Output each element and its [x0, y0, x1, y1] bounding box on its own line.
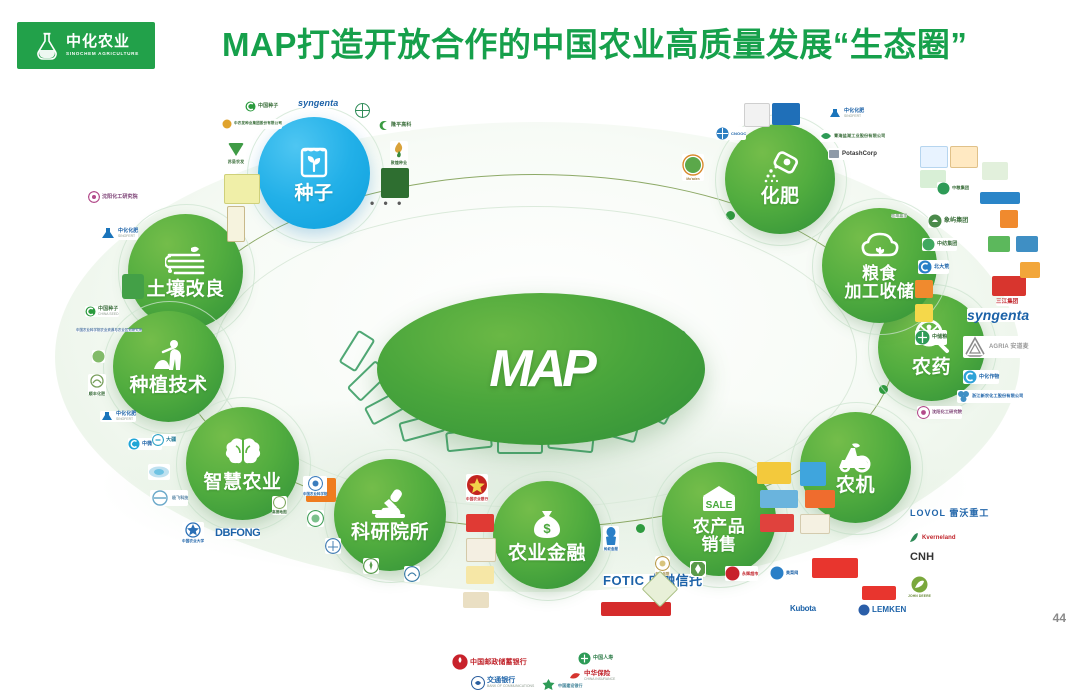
node-machinery-label: 农机	[836, 476, 875, 496]
partner-logo: 中国农业科学院	[303, 476, 327, 496]
partner-logo-text: 交通银行	[487, 677, 534, 684]
partner-logo-text: PotashCorp	[842, 151, 877, 157]
partner-logo: 北大荒	[918, 260, 949, 274]
partner-logo-subtext: SINOFERT	[116, 418, 136, 421]
brain-icon	[222, 435, 264, 471]
partner-logo-text: 中国种子	[258, 104, 278, 109]
partner-logo-text: LEMKEN	[872, 606, 906, 614]
partner-logo: 益海嘉里	[891, 214, 907, 218]
partner-logo-text: 中国农业银行	[466, 498, 488, 502]
partner-logo: 敦煌种业	[390, 141, 408, 165]
partner-logo	[122, 274, 144, 299]
page-title: MAP打造开放合作的中国农业高质量发展“生态圈”	[222, 19, 1012, 71]
partner-logo-subtext: SINOFERT	[844, 115, 864, 118]
partner-logo-text: syngenta	[967, 308, 1029, 322]
partner-logo	[466, 538, 496, 562]
partner-logo: syngenta	[967, 308, 1029, 322]
partner-logo-text: 敦煌种业	[391, 161, 407, 165]
partner-logo	[92, 350, 105, 363]
map-logo-text: MAP	[377, 293, 705, 445]
partner-logo-text: 中纺集团	[937, 242, 957, 247]
partner-logo	[805, 490, 835, 508]
partner-logo-text: 沈阳化工研究院	[932, 410, 962, 414]
partner-logo	[760, 514, 794, 532]
partner-logo: 三江集团	[996, 300, 1018, 306]
partner-logo: 中化化肥 SINOFERT	[100, 411, 136, 422]
slide-root: 中化农业 SINOCHEM AGRICULTURE MAP打造开放合作的中国农业…	[0, 0, 1080, 651]
svg-text:$: $	[543, 521, 551, 536]
partner-logo-text: 沈阳化工研究院	[102, 195, 138, 200]
partner-logo	[148, 464, 170, 480]
bayer-cross-icon	[355, 103, 370, 118]
partner-logo: 中储粮	[915, 330, 947, 345]
partner-logo	[1020, 262, 1040, 278]
node-smart-label: 智慧农业	[203, 473, 281, 493]
partner-logo: 中化化肥 SINOFERT	[100, 227, 138, 240]
partner-logo: 美菜网	[770, 566, 798, 580]
partner-logo: syngenta	[298, 99, 338, 108]
partner-logo	[950, 146, 978, 168]
partner-logo	[772, 103, 800, 125]
partner-logo-text: 青海盐湖工业股份有限公司	[834, 134, 885, 138]
partner-logo	[915, 280, 933, 298]
partner-logo	[363, 558, 379, 574]
partner-logo: 沈阳化工研究院	[88, 191, 138, 203]
brand-name-cn: 中化农业	[66, 34, 139, 49]
partner-logo: 中化作物	[963, 370, 999, 384]
node-fertilizer-label: 化肥	[760, 187, 799, 207]
partner-logo	[325, 538, 341, 554]
partner-logo: 极飞科技	[150, 490, 188, 506]
map-center: MAP	[322, 279, 758, 469]
partner-logo: 中国农业科学院农业资源与农业区划研究所	[76, 329, 142, 332]
partner-logo: PotashCorp	[828, 148, 877, 160]
partner-logo: 象屿集团	[928, 214, 968, 228]
partner-logo: 中农发种业集团股份有限公司	[222, 119, 282, 129]
partner-logo-text: 中粮集团	[952, 186, 969, 190]
partner-logo-text: AGRIA 安道麦	[989, 344, 1029, 350]
partner-logo-text: 苏垦农发	[228, 160, 244, 164]
node-grain-label-1: 粮食	[862, 265, 897, 283]
map-ellipse: MAP	[377, 293, 705, 445]
microscope-icon	[369, 487, 411, 521]
soil-layers-icon	[165, 244, 207, 278]
ecosystem-diagram: MAP 种子	[0, 86, 1080, 651]
node-seed-label: 种子	[294, 184, 333, 204]
money-bag-icon: $	[529, 506, 565, 542]
partner-logo: JOHN DEERE	[908, 576, 931, 598]
partner-logo-text: 中国农业科学院	[303, 493, 327, 496]
page-number: 44	[1053, 611, 1066, 625]
partner-logo-subtext: CHINA INSURANCE	[584, 678, 615, 681]
partner-logo-text: 高德地图	[272, 511, 287, 515]
partner-logo	[800, 514, 830, 534]
sale-tag-icon: SALE	[697, 484, 741, 516]
partner-logo	[988, 236, 1010, 252]
partner-logo-text: Ma'aden	[686, 178, 699, 181]
partner-logo-text: 中储粮	[932, 335, 947, 340]
node-soil-label: 土壤改良	[146, 280, 224, 300]
partner-logo-text: 浙江新农化工股份有限公司	[972, 394, 1023, 398]
seed-packet-icon	[294, 142, 334, 182]
brand-name-en: SINOCHEM AGRICULTURE	[66, 52, 139, 57]
partner-logo: 中国人寿	[578, 652, 613, 665]
node-sales-label-1: 农产品	[693, 518, 746, 536]
partner-logo	[1000, 210, 1018, 228]
partner-logo: CNOOC	[716, 127, 746, 140]
partner-logo-text: 中国建设银行	[558, 684, 583, 688]
node-fertilizer[interactable]: 化肥	[725, 124, 835, 234]
brand-text: 中化农业 SINOCHEM AGRICULTURE	[66, 34, 139, 57]
partner-logo: Ma'aden	[682, 154, 704, 181]
partner-logo-text: syngenta	[298, 99, 338, 108]
partner-logo: 永辉超市	[725, 566, 758, 581]
node-sales-label-2: 销售	[702, 536, 737, 554]
partner-logo-text: 中国农业科学院农业资源与农业区划研究所	[76, 329, 142, 332]
partner-logo: Kverneland	[908, 532, 956, 544]
partner-logo: 中国种子	[245, 101, 278, 112]
partner-logo: LEMKEN	[858, 604, 906, 616]
partner-logo-text: LOVOL 雷沃重工	[910, 509, 989, 518]
partner-logo	[760, 490, 798, 508]
partner-logo-text: JOHN DEERE	[908, 595, 931, 598]
partner-logo: 青海盐湖工业股份有限公司	[820, 130, 885, 142]
partner-logo: DBFONG	[215, 528, 260, 539]
partner-logo: 中国农业银行	[466, 474, 488, 502]
partner-logo	[690, 561, 706, 577]
partner-logo: 交通银行 BANK OF COMMUNICATIONS	[471, 676, 534, 690]
partner-logo: LOVOL 雷沃重工	[910, 509, 989, 518]
fertilizer-bag-icon	[760, 151, 800, 185]
partner-logo-text: 大疆	[166, 438, 176, 443]
partner-logo-text: 极飞科技	[172, 496, 188, 500]
partner-logo	[381, 168, 409, 198]
partner-logo: 中化化肥 SINOFERT	[828, 108, 864, 120]
partner-logo-text: 三江集团	[996, 300, 1018, 306]
partner-logo-text: 中国人寿	[593, 656, 613, 661]
node-seed[interactable]: 种子	[258, 117, 370, 229]
partner-logo	[466, 514, 494, 532]
partner-logo	[744, 103, 770, 127]
partner-logo: 蚂蚁金服	[603, 526, 619, 551]
partner-logo: 中国种子 CHINA SEED	[85, 306, 119, 317]
node-research[interactable]: 科研院所	[334, 459, 446, 571]
farmer-icon	[149, 338, 189, 374]
partner-logo: 顺丰化肥	[88, 374, 106, 396]
node-finance[interactable]: $ 农业金融	[493, 481, 601, 589]
partner-logo-text: 顺丰化肥	[89, 392, 105, 396]
partner-logo: 浙江新农化工股份有限公司	[957, 390, 1023, 403]
partner-logo-text: Kubota	[790, 605, 816, 613]
partner-logo-text: 象屿集团	[944, 218, 968, 224]
tractor-icon	[835, 440, 877, 474]
partner-logo-text: 隆平高科	[391, 123, 411, 128]
partner-logo	[980, 192, 1020, 204]
ellipsis-indicator: • • •	[370, 196, 404, 210]
partner-logo	[915, 304, 933, 322]
slide-header: 中化农业 SINOCHEM AGRICULTURE MAP打造开放合作的中国农业…	[0, 0, 1080, 86]
partner-logo	[800, 462, 826, 486]
partner-logo	[920, 146, 948, 168]
partner-logo	[992, 276, 1026, 296]
partner-logo: 中粮集团	[937, 182, 969, 195]
partner-logo-text: 中农发种业集团股份有限公司	[234, 122, 282, 126]
partner-logo	[1016, 236, 1038, 252]
partner-logo	[862, 586, 896, 600]
partner-logo	[466, 566, 494, 584]
node-grain-label-2: 加工收储	[845, 283, 915, 301]
partner-logo-text: CNOOC	[731, 132, 746, 136]
grain-cloud-icon	[860, 231, 900, 263]
partner-logo	[463, 592, 489, 608]
node-planting-label: 种植技术	[129, 376, 207, 396]
node-pesticide-label: 农药	[912, 358, 951, 378]
partner-logo: AGRIA 安道麦	[963, 336, 1029, 358]
partner-logo-subtext: BANK OF COMMUNICATIONS	[487, 685, 534, 688]
partner-logo	[227, 206, 245, 242]
partner-logo-text: 蚂蚁金服	[604, 548, 618, 551]
partner-logo	[307, 510, 324, 527]
flask-icon	[33, 31, 61, 61]
partner-logo-subtext: SINOFERT	[118, 235, 138, 238]
partner-logo: Kubota	[790, 605, 816, 613]
partner-logo: CNH	[910, 552, 934, 563]
partner-logo: 高德地图	[272, 496, 287, 515]
node-research-label: 科研院所	[351, 523, 429, 543]
partner-logo-text: 美菜网	[786, 571, 798, 575]
partner-logo-subtext: CHINA SEED	[98, 313, 119, 316]
partner-logo	[224, 174, 260, 204]
partner-logo-text: 中国邮政储蓄银行	[470, 659, 527, 666]
partner-logo: 大疆	[152, 434, 176, 446]
partner-logo: 沈阳化工研究院	[917, 406, 962, 419]
partner-logo-text: 中国农业大学	[182, 540, 204, 544]
partner-logo-text: 益海嘉里	[891, 214, 907, 218]
partner-logo: 中国邮政储蓄银行	[452, 654, 527, 670]
partner-logo-text: 永辉超市	[742, 572, 758, 576]
svg-text:SALE: SALE	[706, 500, 733, 511]
partner-logo-text: Kverneland	[922, 535, 956, 541]
partner-logo: 隆平高科	[378, 120, 411, 131]
partner-logo: 苏垦农发	[226, 141, 246, 164]
partner-logo	[982, 162, 1008, 180]
partner-logo	[812, 558, 858, 578]
partner-logo: 中纺集团	[922, 238, 957, 251]
partner-logo	[404, 566, 420, 582]
partner-logo	[355, 103, 370, 118]
partner-logo	[757, 462, 791, 484]
orbit-dot	[636, 524, 645, 533]
partner-logo: 中国农业大学	[182, 522, 204, 544]
brand-logo: 中化农业 SINOCHEM AGRICULTURE	[17, 22, 155, 69]
partner-logo-text: 中化作物	[979, 375, 999, 380]
partner-logo: 中华保险 CHINA INSURANCE	[568, 669, 615, 683]
partner-logo-text: 北大荒	[934, 265, 949, 270]
node-finance-label: 农业金融	[508, 544, 586, 564]
partner-logo-text: DBFONG	[215, 528, 260, 539]
partner-logo-text: 中华保险	[584, 671, 615, 678]
partner-logo-text: CNH	[910, 552, 934, 563]
